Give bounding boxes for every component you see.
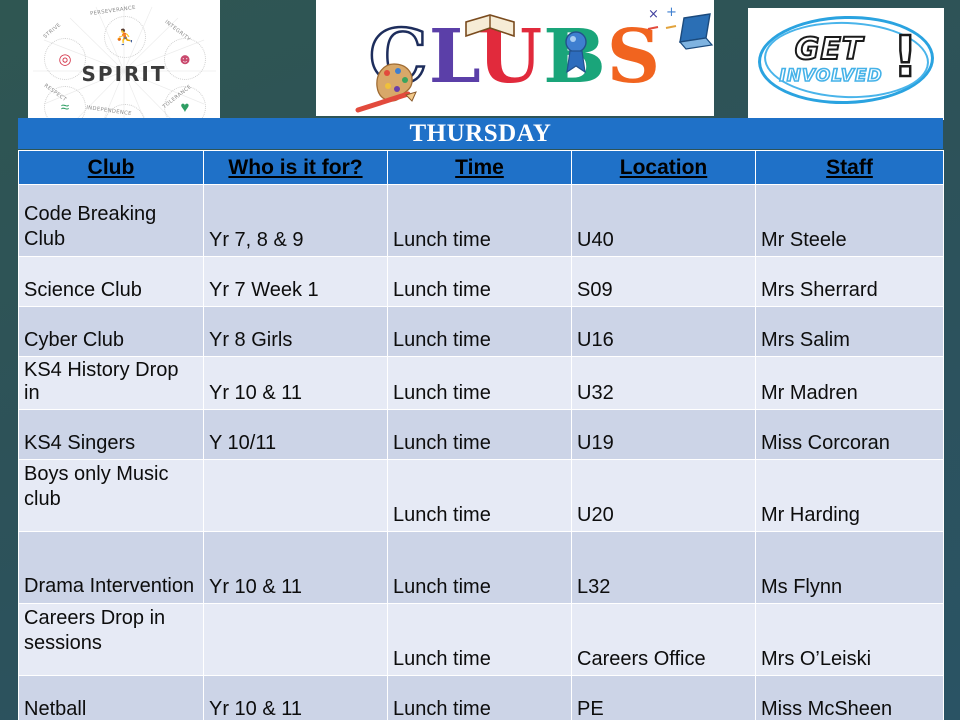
cell-who: Yr 10 & 11 xyxy=(204,532,388,604)
spirit-wordmark: SPIRIT xyxy=(28,62,220,86)
cell-club: KS4 History Drop in xyxy=(19,357,204,410)
cell-location: U32 xyxy=(572,357,756,410)
cell-club: Code Breaking Club xyxy=(19,185,204,257)
cell-staff: Mrs Salim xyxy=(756,307,944,357)
table-row: Science Club Yr 7 Week 1 Lunch time S09 … xyxy=(19,257,944,307)
cell-time: Lunch time xyxy=(388,257,572,307)
cell-who xyxy=(204,604,388,676)
cell-location: U16 xyxy=(572,307,756,357)
cell-time: Lunch time xyxy=(388,357,572,410)
svg-text:×: × xyxy=(648,7,659,22)
clubs-wordmark: CLUBS × + xyxy=(316,0,714,116)
cell-time: Lunch time xyxy=(388,307,572,357)
table-row: Cyber Club Yr 8 Girls Lunch time U16 Mrs… xyxy=(19,307,944,357)
cell-location: U20 xyxy=(572,460,756,532)
get-involved-line1: GET xyxy=(748,32,910,67)
column-header-who: Who is it for? xyxy=(204,151,388,185)
cell-staff: Mr Steele xyxy=(756,185,944,257)
slide-canvas: ◎ ⛹ ☻ ♥ ⛫ ≈ STRIVE PERSEVERANCE INTEGRIT… xyxy=(0,0,960,720)
cell-location: L32 xyxy=(572,532,756,604)
clubs-timetable: Club Who is it for? Time Location Staff … xyxy=(18,150,944,720)
cell-staff: Mr Harding xyxy=(756,460,944,532)
table-row: Code Breaking Club Yr 7, 8 & 9 Lunch tim… xyxy=(19,185,944,257)
book-icon xyxy=(464,12,516,42)
cell-club: Careers Drop in sessions xyxy=(19,604,204,676)
cell-club: Science Club xyxy=(19,257,204,307)
cell-time: Lunch time xyxy=(388,185,572,257)
cell-staff: Mr Madren xyxy=(756,357,944,410)
cell-time: Lunch time xyxy=(388,460,572,532)
table-row: Boys only Music club Lunch time U20 Mr H… xyxy=(19,460,944,532)
cell-club: Boys only Music club xyxy=(19,460,204,532)
cell-location: U19 xyxy=(572,410,756,460)
table-row: KS4 Singers Y 10/11 Lunch time U19 Miss … xyxy=(19,410,944,460)
cell-who: Yr 8 Girls xyxy=(204,307,388,357)
award-ribbon-icon xyxy=(562,30,590,76)
pencil-icon xyxy=(350,90,420,116)
cell-who: Yr 7 Week 1 xyxy=(204,257,388,307)
table-row: Drama Intervention Yr 10 & 11 Lunch time… xyxy=(19,532,944,604)
cell-club: Netball xyxy=(19,676,204,720)
table-header-row: Club Who is it for? Time Location Staff xyxy=(19,151,944,185)
cell-staff: Miss Corcoran xyxy=(756,410,944,460)
cell-staff: Miss McSheen xyxy=(756,676,944,720)
cell-staff: Mrs Sherrard xyxy=(756,257,944,307)
table-row: Careers Drop in sessions Lunch time Care… xyxy=(19,604,944,676)
cell-club: Cyber Club xyxy=(19,307,204,357)
column-header-location: Location xyxy=(572,151,756,185)
climber-icon: ⛹ xyxy=(104,16,146,58)
table-row: Netball Yr 10 & 11 Lunch time PE Miss Mc… xyxy=(19,676,944,720)
math-symbols-icon: × + xyxy=(646,4,686,38)
cell-club: KS4 Singers xyxy=(19,410,204,460)
exclamation-mark: ! xyxy=(892,30,918,86)
cell-staff: Mrs O’Leiski xyxy=(756,604,944,676)
cell-time: Lunch time xyxy=(388,676,572,720)
cell-time: Lunch time xyxy=(388,532,572,604)
get-involved-line2: INVOLVED xyxy=(748,66,914,86)
cell-who: Yr 10 & 11 xyxy=(204,676,388,720)
column-header-club: Club xyxy=(19,151,204,185)
cell-who xyxy=(204,460,388,532)
cell-time: Lunch time xyxy=(388,410,572,460)
day-title-bar: THURSDAY xyxy=(18,118,943,149)
cell-who: Yr 10 & 11 xyxy=(204,357,388,410)
column-header-staff: Staff xyxy=(756,151,944,185)
cell-location: S09 xyxy=(572,257,756,307)
cell-time: Lunch time xyxy=(388,604,572,676)
cell-location: PE xyxy=(572,676,756,720)
column-header-time: Time xyxy=(388,151,572,185)
table-row: KS4 History Drop in Yr 10 & 11 Lunch tim… xyxy=(19,357,944,410)
cell-location: U40 xyxy=(572,185,756,257)
cell-location: Careers Office xyxy=(572,604,756,676)
cell-staff: Ms Flynn xyxy=(756,532,944,604)
svg-text:+: + xyxy=(666,5,677,20)
cell-club: Drama Intervention xyxy=(19,532,204,604)
cell-who: Yr 7, 8 & 9 xyxy=(204,185,388,257)
cell-who: Y 10/11 xyxy=(204,410,388,460)
get-involved-badge: GET INVOLVED ! xyxy=(748,8,944,120)
